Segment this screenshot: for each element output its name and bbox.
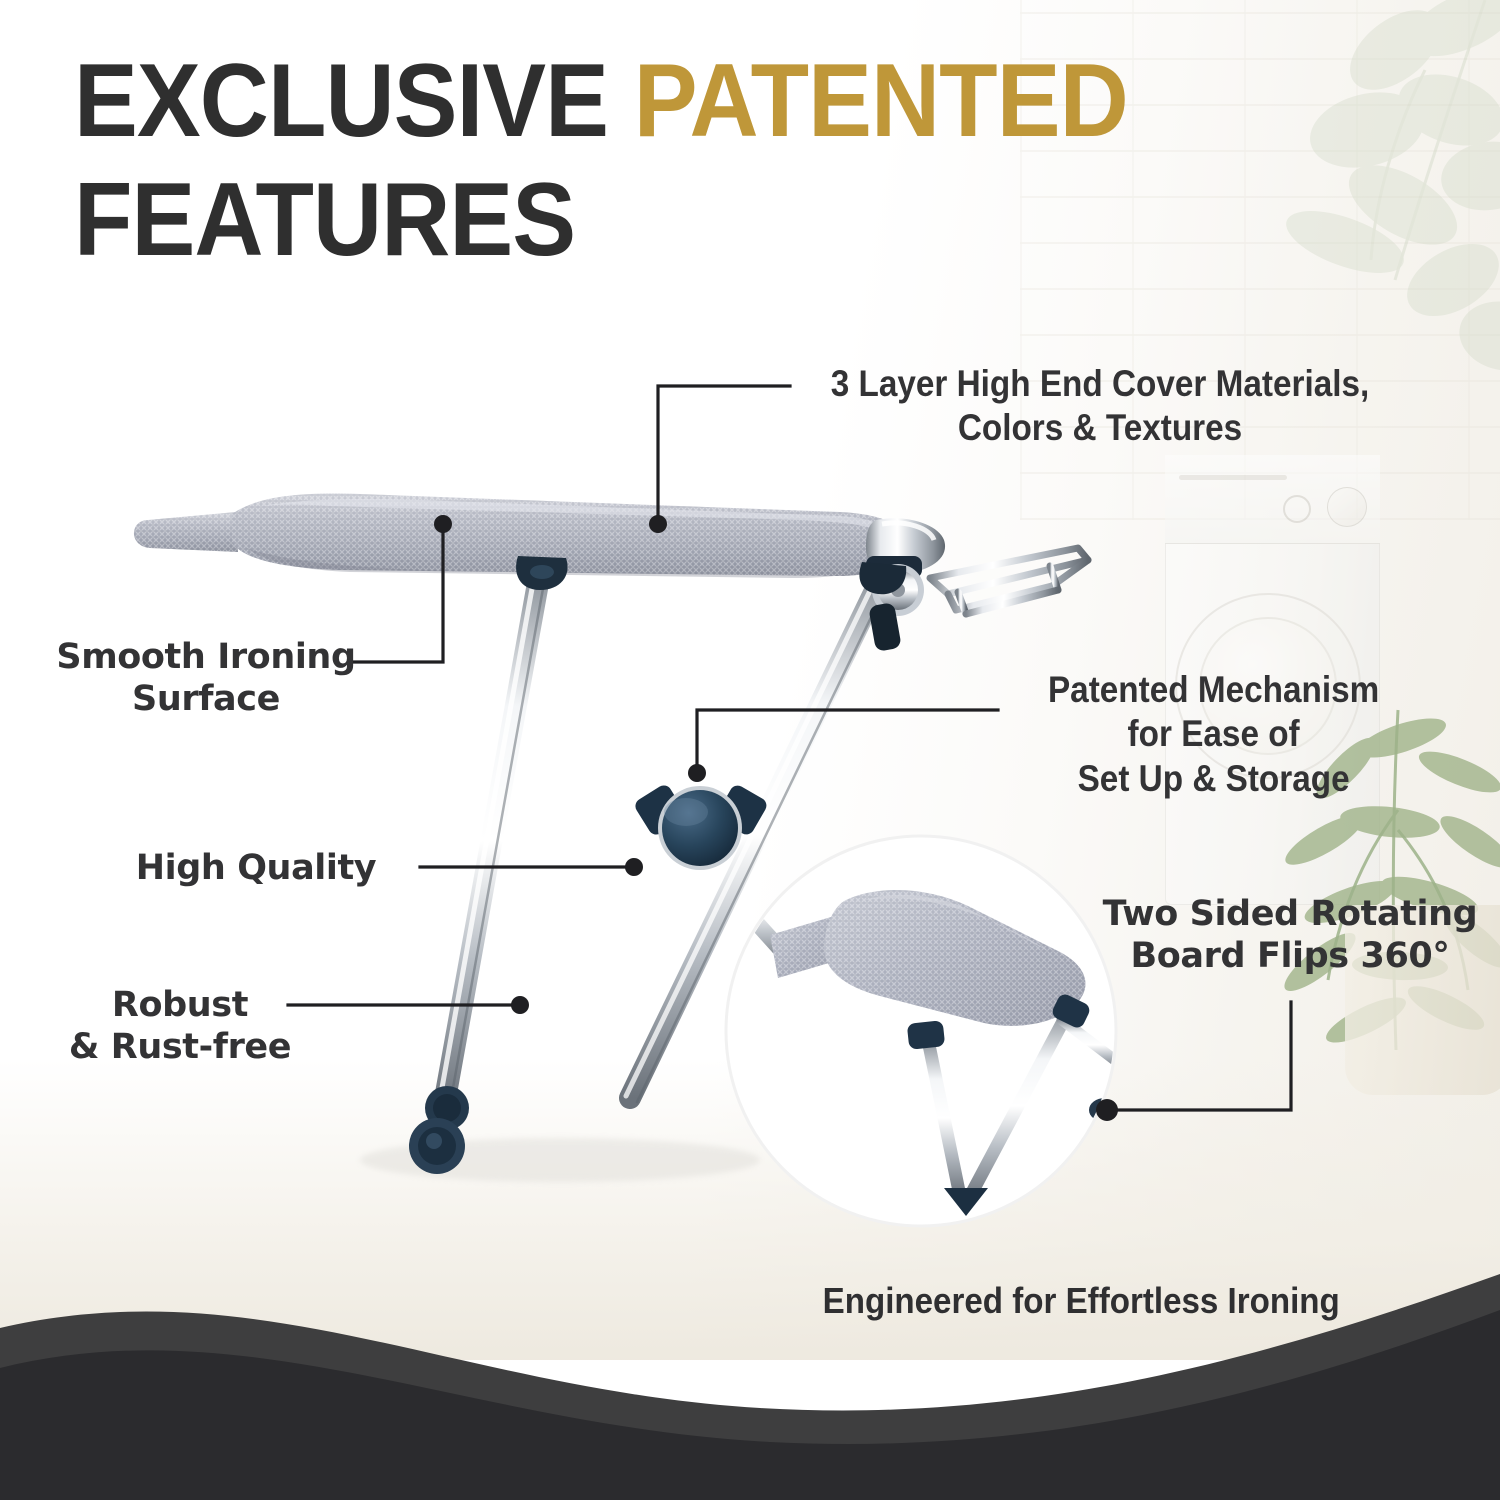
page-title: EXCLUSIVE PATENTEDFEATURES: [74, 42, 1288, 279]
headline-patented: PATENTED: [634, 43, 1128, 159]
callout-two-sided-rotating: Two Sided Rotating Board Flips 360°: [1090, 893, 1490, 977]
leg-foot-wheels: [409, 1086, 469, 1174]
callout-smooth-ironing-surface: Smooth Ironing Surface: [46, 636, 366, 720]
headline-features: FEATURES: [74, 162, 575, 278]
callout-high-quality: High Quality: [96, 847, 416, 889]
callout-patented-mechanism: Patented Mechanism for Ease of Set Up & …: [1012, 668, 1415, 801]
headline-exclusive: EXCLUSIVE: [74, 43, 634, 159]
callout-cover-materials: 3 Layer High End Cover Materials, Colors…: [812, 362, 1388, 451]
iron-rest-basket: [930, 548, 1088, 614]
callout-robust-rust-free: Robust & Rust-free: [30, 984, 330, 1068]
tagline: Engineered for Effortless Ironing: [796, 1280, 1366, 1322]
leg-front-left: [438, 572, 546, 1110]
infographic-canvas: EXCLUSIVE PATENTEDFEATURES 3 Layer High …: [0, 0, 1500, 1500]
bottom-wave-band: [0, 1240, 1500, 1500]
rotating-board-inset: [700, 836, 1128, 1226]
